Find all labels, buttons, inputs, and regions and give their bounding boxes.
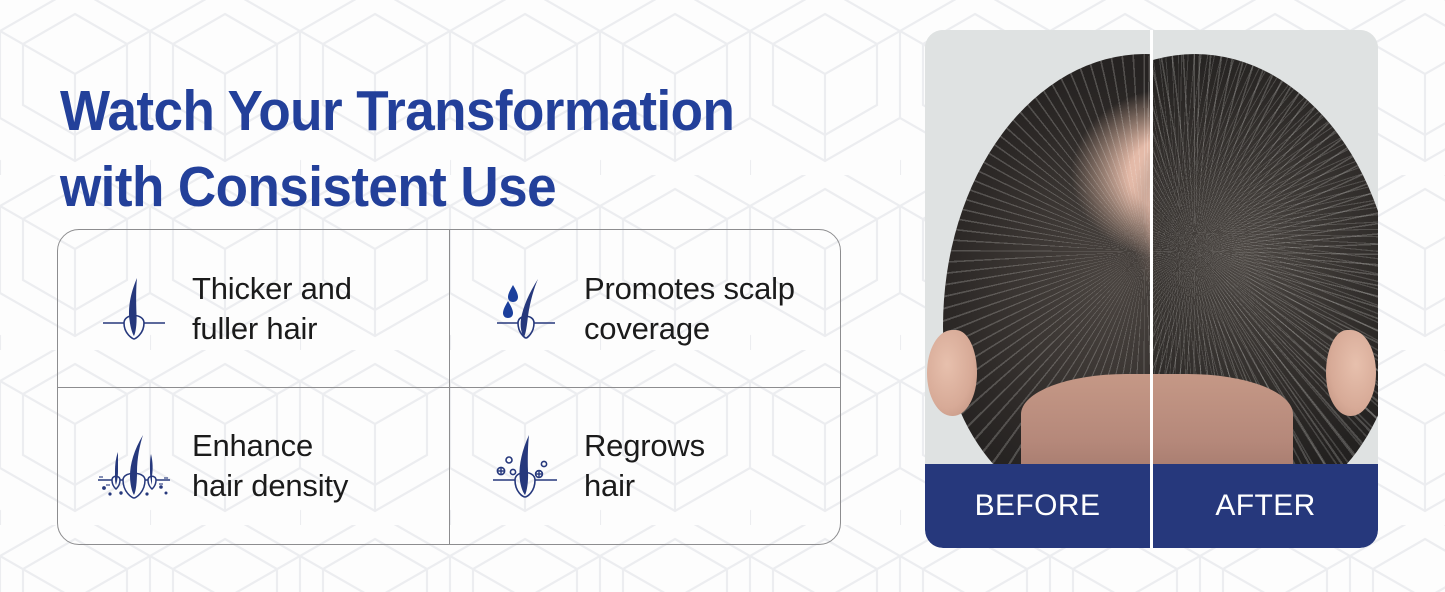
ear-left	[927, 330, 977, 416]
before-photo-half	[925, 30, 1150, 464]
before-after-panel: BEFORE AFTER	[925, 30, 1378, 548]
feature-label: Enhance hair density	[192, 426, 348, 505]
feature-cell-enhance-hair-density[interactable]: Enhance hair density	[58, 387, 449, 544]
ear-right	[1326, 330, 1376, 416]
feature-cell-promotes-scalp-coverage[interactable]: Promotes scalp coverage	[449, 230, 840, 387]
feature-label: Thicker and fuller hair	[192, 269, 352, 348]
feature-cell-thicker-fuller-hair[interactable]: Thicker and fuller hair	[58, 230, 449, 387]
feature-grid: Thicker and fuller hair Promotes scalp c…	[57, 229, 841, 545]
hair-follicle-density-icon	[92, 424, 176, 508]
before-after-label-bar: BEFORE AFTER	[925, 464, 1378, 548]
promo-banner: Watch Your Transformation with Consisten…	[0, 0, 1445, 592]
before-after-divider	[1150, 30, 1153, 464]
feature-cell-regrows-hair[interactable]: Regrows hair	[449, 387, 840, 544]
hair-follicle-icon	[92, 267, 176, 351]
after-photo-half	[1153, 30, 1378, 464]
before-label: BEFORE	[925, 464, 1150, 548]
before-after-photo	[925, 30, 1378, 464]
after-label: AFTER	[1153, 464, 1378, 548]
page-title: Watch Your Transformation with Consisten…	[60, 74, 823, 226]
hair-follicle-droplets-icon	[484, 267, 568, 351]
feature-label: Regrows hair	[584, 426, 705, 505]
hair-follicle-bubbles-icon	[484, 424, 568, 508]
feature-label: Promotes scalp coverage	[584, 269, 795, 348]
